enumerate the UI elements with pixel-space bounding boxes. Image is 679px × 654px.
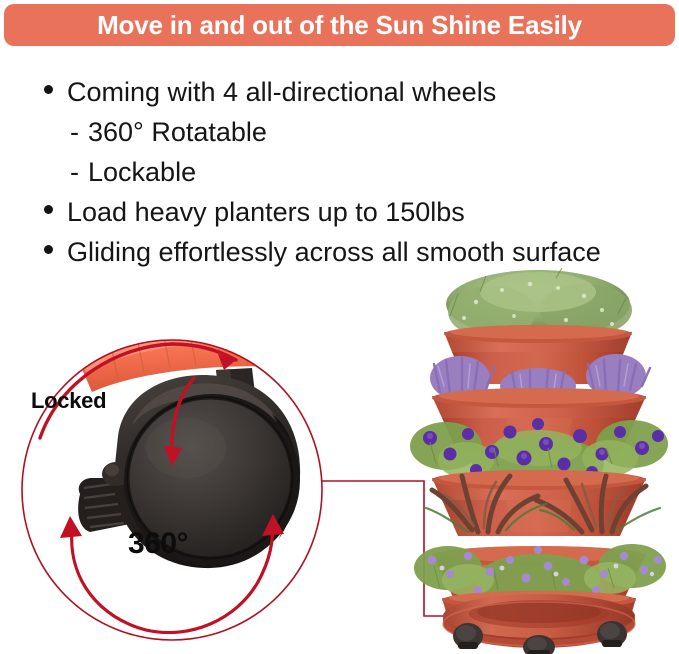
rotation-360-label: 360° [128, 527, 188, 561]
bullet-dot-icon [44, 205, 53, 214]
feature-item: Load heavy planters up to 150lbs [44, 192, 679, 232]
caster-callout [20, 318, 324, 654]
planter-tower-image [406, 268, 679, 654]
feature-subitem: - Lockable [44, 152, 679, 192]
locked-label: Locked [31, 388, 106, 414]
feature-item: Gliding effortlessly across all smooth s… [44, 232, 679, 272]
caster-wheel-left [453, 623, 483, 649]
feature-text: Gliding effortlessly across all smooth s… [67, 232, 601, 272]
feature-subitem: - 360° Rotatable [44, 112, 679, 152]
bullet-dot-icon [44, 245, 53, 254]
dash-icon: - [70, 112, 79, 152]
feature-text: 360° Rotatable [88, 112, 267, 152]
header-banner: Move in and out of the Sun Shine Easily [4, 4, 675, 46]
dash-icon: - [70, 152, 79, 192]
feature-text: Coming with 4 all-directional wheels [67, 72, 496, 112]
banner-title: Move in and out of the Sun Shine Easily [97, 12, 582, 38]
feature-list: Coming with 4 all-directional wheels - 3… [44, 72, 679, 272]
bullet-dot-icon [44, 85, 53, 94]
feature-text: Lockable [88, 152, 196, 192]
caster-brake-lever [78, 462, 130, 532]
feature-text: Load heavy planters up to 150lbs [67, 192, 465, 232]
feature-item: Coming with 4 all-directional wheels [44, 72, 679, 112]
arrowhead-left-up [60, 516, 82, 538]
caster-wheel-right [597, 621, 627, 647]
